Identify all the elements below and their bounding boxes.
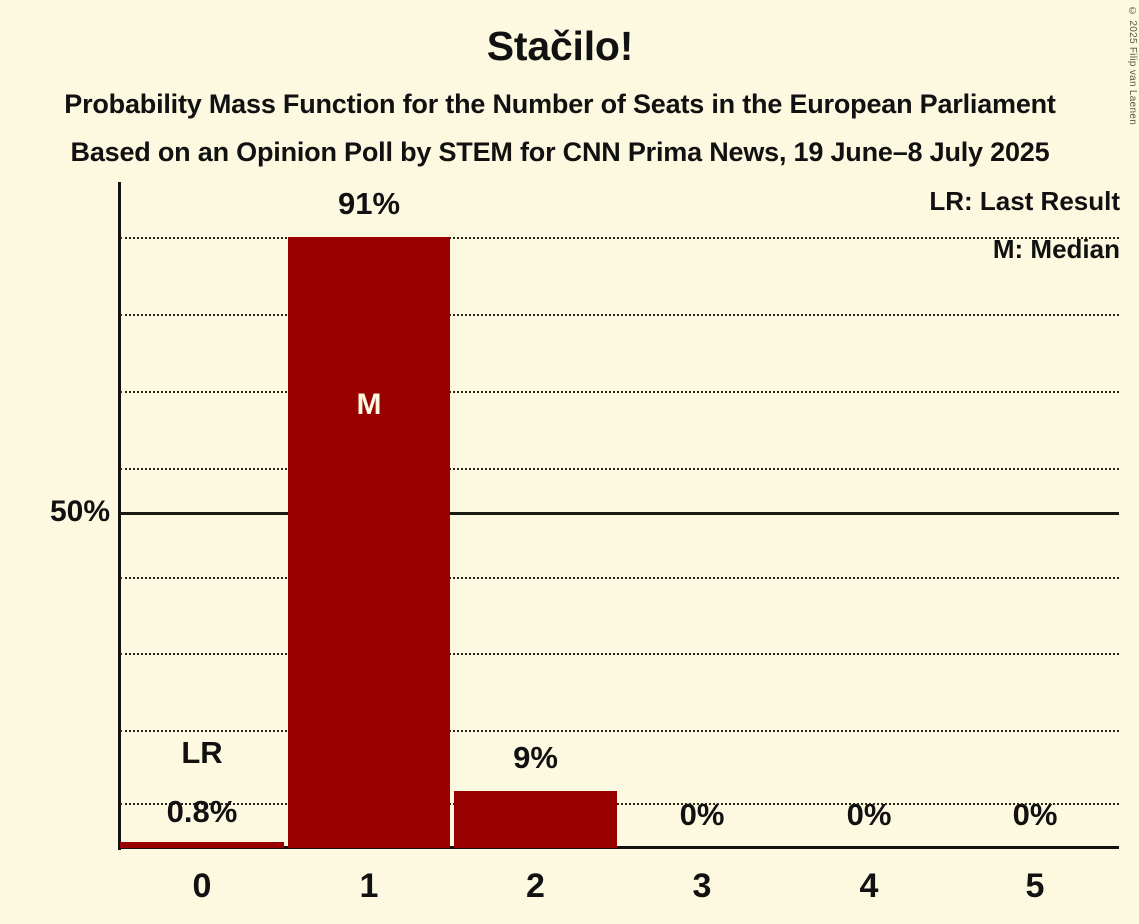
gridline-60 (120, 468, 1119, 470)
legend-median: M: Median (993, 234, 1120, 264)
median-marker: M (288, 390, 450, 420)
bar-category-1[interactable]: M (288, 237, 450, 848)
y-axis-tick-label-50: 50% (10, 497, 110, 527)
x-axis-tick-label-1: 1 (288, 866, 450, 906)
bar-category-0[interactable] (120, 842, 284, 848)
gridline-80 (120, 314, 1119, 316)
value-label-category-0: 0.8% (120, 795, 284, 829)
value-label-category-1: 91% (288, 187, 450, 221)
chart-container: Stačilo! Probability Mass Function for t… (0, 0, 1139, 924)
gridline-30 (120, 653, 1119, 655)
gridline-70 (120, 391, 1119, 393)
value-label-category-2: 9% (454, 741, 617, 775)
gridline-40 (120, 577, 1119, 579)
plot-area: M LR 0.8% 91% 9% 0% 0% 0% (120, 182, 1119, 848)
legend-last-result: LR: Last Result (929, 186, 1120, 216)
copyright-notice: © 2025 Filip van Laenen (1127, 6, 1138, 125)
bar-category-2[interactable] (454, 791, 617, 848)
x-axis-tick-label-5: 5 (953, 866, 1117, 906)
chart-subsubtitle: Based on an Opinion Poll by STEM for CNN… (0, 136, 1120, 168)
chart-title: Stačilo! (0, 22, 1120, 70)
x-axis-tick-label-2: 2 (454, 866, 617, 906)
value-label-category-3: 0% (620, 798, 784, 832)
value-label-category-4: 0% (787, 798, 951, 832)
chart-subtitle: Probability Mass Function for the Number… (0, 88, 1120, 120)
x-axis-tick-label-4: 4 (787, 866, 951, 906)
x-axis-tick-label-0: 0 (120, 866, 284, 906)
gridline-20 (120, 730, 1119, 732)
x-axis-tick-label-3: 3 (620, 866, 784, 906)
last-result-marker: LR (120, 736, 284, 770)
value-label-category-5: 0% (953, 798, 1117, 832)
gridline-50-major (120, 512, 1119, 515)
gridline-90 (120, 237, 1119, 239)
